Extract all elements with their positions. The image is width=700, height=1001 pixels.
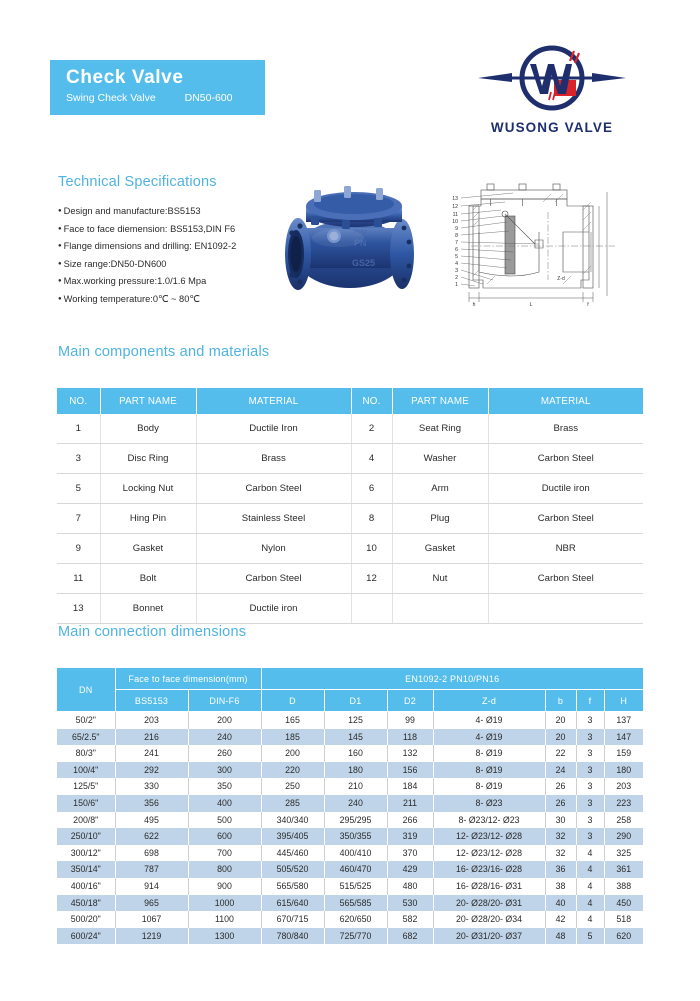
cell-material-left: Nylon	[196, 534, 351, 564]
cell-zd: 20- Ø31/20- Ø37	[433, 928, 545, 945]
cell-din-f6: 1100	[188, 911, 261, 928]
cell-d2: 266	[387, 812, 433, 829]
cell-d1: 180	[324, 762, 387, 779]
technical-specifications-list: Design and manufacture:BS5153 Face to fa…	[58, 203, 273, 308]
cell-dn: 100/4"	[57, 762, 115, 779]
cell-din-f6: 900	[188, 878, 261, 895]
cell-bs5153: 914	[115, 878, 188, 895]
cell-din-f6: 240	[188, 729, 261, 746]
svg-text:1: 1	[455, 282, 458, 288]
cell-b: 26	[545, 795, 576, 812]
cell-bs5153: 495	[115, 812, 188, 829]
cell-din-f6: 1000	[188, 895, 261, 912]
cell-f: 4	[576, 861, 604, 878]
svg-text:7: 7	[455, 240, 458, 246]
cell-f: 3	[576, 828, 604, 845]
cell-b: 40	[545, 895, 576, 912]
cell-f: 4	[576, 911, 604, 928]
cell-b: 22	[545, 745, 576, 762]
cell-bs5153: 203	[115, 712, 188, 729]
cell-f: 3	[576, 712, 604, 729]
cell-material-left: Carbon Steel	[196, 474, 351, 504]
cell-d: 670/715	[261, 911, 324, 928]
cell-d: 565/580	[261, 878, 324, 895]
cell-no-left: 1	[57, 414, 100, 444]
cell-material-left: Stainless Steel	[196, 504, 351, 534]
cell-no-right: 8	[351, 504, 392, 534]
cell-d: 165	[261, 712, 324, 729]
cell-material-left: Ductile Iron	[196, 414, 351, 444]
svg-text:12: 12	[452, 204, 458, 210]
cell-zd: 12- Ø23/12- Ø28	[433, 845, 545, 862]
cell-material-right: Carbon Steel	[488, 504, 643, 534]
cell-part-right: Seat Ring	[392, 414, 488, 444]
cell-din-f6: 600	[188, 828, 261, 845]
column-group-en1092: EN1092-2 PN10/PN16	[261, 668, 643, 690]
cell-dn: 500/20"	[57, 911, 115, 928]
product-size-range: DN50-600	[185, 92, 233, 104]
table-row: 5 Locking Nut Carbon Steel 6 Arm Ductile…	[57, 474, 643, 504]
cell-din-f6: 500	[188, 812, 261, 829]
table-row: 3 Disc Ring Brass 4 Washer Carbon Steel	[57, 444, 643, 474]
cell-d: 395/405	[261, 828, 324, 845]
table-row: 150/6"3564002852402118- Ø23263223	[57, 795, 643, 812]
cell-no-right	[351, 594, 392, 624]
cell-bs5153: 965	[115, 895, 188, 912]
main-connection-dimensions-table: DN Face to face dimension(mm) EN1092-2 P…	[57, 668, 643, 944]
cell-no-left: 11	[57, 564, 100, 594]
cell-din-f6: 400	[188, 795, 261, 812]
cell-d: 445/460	[261, 845, 324, 862]
cell-bs5153: 330	[115, 778, 188, 795]
column-header-dn: DN	[57, 668, 115, 712]
cell-dn: 400/16"	[57, 878, 115, 895]
cell-dn: 350/14"	[57, 861, 115, 878]
cell-d1: 515/525	[324, 878, 387, 895]
cell-zd: 4- Ø19	[433, 712, 545, 729]
cell-f: 3	[576, 745, 604, 762]
cell-zd: 20- Ø28/20- Ø31	[433, 895, 545, 912]
cell-part-left: Locking Nut	[100, 474, 196, 504]
cell-dn: 250/10"	[57, 828, 115, 845]
cell-b: 48	[545, 928, 576, 945]
cell-d2: 184	[387, 778, 433, 795]
table-row: 350/14"787800505/520460/47042916- Ø23/16…	[57, 861, 643, 878]
cell-f: 3	[576, 729, 604, 746]
cell-din-f6: 350	[188, 778, 261, 795]
cell-d2: 370	[387, 845, 433, 862]
cell-d2: 211	[387, 795, 433, 812]
cell-dn: 200/8"	[57, 812, 115, 829]
cell-bs5153: 622	[115, 828, 188, 845]
spec-item: Design and manufacture:BS5153	[58, 203, 273, 221]
title-subtitle-row: Swing Check Valve DN50-600	[66, 92, 265, 105]
table-row: 300/12"698700445/460400/41037012- Ø23/12…	[57, 845, 643, 862]
cell-d2: 118	[387, 729, 433, 746]
company-logo: WUSONG VALVE	[472, 42, 632, 135]
table-header-row-top: DN Face to face dimension(mm) EN1092-2 P…	[57, 668, 643, 690]
cell-din-f6: 300	[188, 762, 261, 779]
cell-part-left: Bolt	[100, 564, 196, 594]
cell-f: 3	[576, 795, 604, 812]
cell-d1: 350/355	[324, 828, 387, 845]
cell-zd: 8- Ø23/12- Ø23	[433, 812, 545, 829]
cell-b: 36	[545, 861, 576, 878]
cell-part-left: Hing Pin	[100, 504, 196, 534]
cell-bs5153: 292	[115, 762, 188, 779]
cell-no-right: 2	[351, 414, 392, 444]
table-row: 13 Bonnet Ductile iron	[57, 594, 643, 624]
cell-d: 220	[261, 762, 324, 779]
cell-dn: 450/18"	[57, 895, 115, 912]
spec-item: Max.working pressure:1.0/1.6 Mpa	[58, 273, 273, 291]
cell-din-f6: 260	[188, 745, 261, 762]
cell-d2: 480	[387, 878, 433, 895]
cell-b: 26	[545, 778, 576, 795]
svg-text:L: L	[530, 302, 533, 308]
cell-f: 4	[576, 895, 604, 912]
cell-no-right: 4	[351, 444, 392, 474]
cell-f: 4	[576, 878, 604, 895]
cell-zd: 20- Ø28/20- Ø34	[433, 911, 545, 928]
table-row: 500/20"10671100670/715620/65058220- Ø28/…	[57, 911, 643, 928]
cell-d: 185	[261, 729, 324, 746]
cell-d2: 99	[387, 712, 433, 729]
svg-text:Z-d: Z-d	[557, 276, 565, 282]
svg-text:4: 4	[455, 261, 458, 267]
spec-item: Flange dimensions and drilling: EN1092-2	[58, 238, 273, 256]
cell-b: 24	[545, 762, 576, 779]
cell-d1: 240	[324, 795, 387, 812]
table-row: 125/5"3303502502101848- Ø19263203	[57, 778, 643, 795]
cell-f: 3	[576, 762, 604, 779]
cell-part-right	[392, 594, 488, 624]
cell-d1: 295/295	[324, 812, 387, 829]
spec-item: Face to face diemension: BS5153,DIN F6	[58, 221, 273, 239]
cell-h: 203	[604, 778, 643, 795]
cell-bs5153: 216	[115, 729, 188, 746]
cell-d2: 582	[387, 911, 433, 928]
cell-part-right: Plug	[392, 504, 488, 534]
cell-b: 32	[545, 845, 576, 862]
column-header-no-left: NO.	[57, 388, 100, 414]
cell-f: 4	[576, 845, 604, 862]
column-header-bs5153: BS5153	[115, 690, 188, 712]
cell-dn: 80/3"	[57, 745, 115, 762]
cell-b: 32	[545, 828, 576, 845]
cell-d2: 530	[387, 895, 433, 912]
column-header-material-left: MATERIAL	[196, 388, 351, 414]
cell-h: 388	[604, 878, 643, 895]
title-banner: Check Valve Swing Check Valve DN50-600	[50, 60, 265, 115]
table-row: 250/10"622600395/405350/35531912- Ø23/12…	[57, 828, 643, 845]
cell-dn: 50/2"	[57, 712, 115, 729]
cell-d1: 145	[324, 729, 387, 746]
cell-d1: 160	[324, 745, 387, 762]
cell-din-f6: 700	[188, 845, 261, 862]
cell-material-right: Brass	[488, 414, 643, 444]
cell-zd: 8- Ø19	[433, 745, 545, 762]
cell-h: 258	[604, 812, 643, 829]
main-connection-dimensions-heading: Main connection dimensions	[58, 624, 246, 640]
cell-part-left: Disc Ring	[100, 444, 196, 474]
cell-bs5153: 1067	[115, 911, 188, 928]
cell-zd: 16- Ø23/16- Ø28	[433, 861, 545, 878]
cell-no-right: 12	[351, 564, 392, 594]
cell-h: 620	[604, 928, 643, 945]
cell-zd: 8- Ø23	[433, 795, 545, 812]
cell-d2: 429	[387, 861, 433, 878]
svg-text:GS25: GS25	[352, 258, 375, 268]
svg-text:10: 10	[452, 219, 458, 225]
cell-material-left: Ductile iron	[196, 594, 351, 624]
cell-b: 30	[545, 812, 576, 829]
main-components-table: NO. PART NAME MATERIAL NO. PART NAME MAT…	[57, 388, 643, 624]
table-row: 80/3"2412602001601328- Ø19223159	[57, 745, 643, 762]
page-title: Check Valve	[66, 67, 265, 89]
table-row: 11 Bolt Carbon Steel 12 Nut Carbon Steel	[57, 564, 643, 594]
cell-d: 200	[261, 745, 324, 762]
table-row: 50/2"203200165125994- Ø19203137	[57, 712, 643, 729]
cell-zd: 8- Ø19	[433, 778, 545, 795]
spec-item: Size range:DN50-DN600	[58, 256, 273, 274]
table-row: 7 Hing Pin Stainless Steel 8 Plug Carbon…	[57, 504, 643, 534]
svg-text:h: h	[473, 302, 476, 308]
cell-h: 290	[604, 828, 643, 845]
swing-check-valve-photo: DN PN GS25	[268, 176, 430, 308]
cell-material-right	[488, 594, 643, 624]
table-row: 1 Body Ductile Iron 2 Seat Ring Brass	[57, 414, 643, 444]
cell-h: 159	[604, 745, 643, 762]
cell-b: 42	[545, 911, 576, 928]
svg-text:13: 13	[452, 196, 458, 202]
column-header-f: f	[576, 690, 604, 712]
cell-no-left: 13	[57, 594, 100, 624]
table-header-row-sub: BS5153 DIN-F6 D D1 D2 Z-d b f H	[57, 690, 643, 712]
cell-d2: 682	[387, 928, 433, 945]
cell-dn: 65/2.5"	[57, 729, 115, 746]
table-row: 450/18"9651000615/640565/58553020- Ø28/2…	[57, 895, 643, 912]
cell-material-right: Carbon Steel	[488, 564, 643, 594]
table-row: 100/4"2923002201801568- Ø19243180	[57, 762, 643, 779]
cell-f: 3	[576, 812, 604, 829]
cell-bs5153: 356	[115, 795, 188, 812]
swing-check-valve-section-drawing: 13 12 11 10 9 8 7 6 5 4 3 2 1 L h f Z-d	[443, 176, 625, 308]
cell-d1: 460/470	[324, 861, 387, 878]
svg-text:6: 6	[455, 247, 458, 253]
cell-material-left: Carbon Steel	[196, 564, 351, 594]
cell-f: 5	[576, 928, 604, 945]
svg-text:3: 3	[455, 268, 458, 274]
cell-h: 450	[604, 895, 643, 912]
column-header-h: H	[604, 690, 643, 712]
main-components-heading: Main components and materials	[58, 344, 269, 360]
cell-zd: 12- Ø23/12- Ø28	[433, 828, 545, 845]
svg-text:5: 5	[455, 254, 458, 260]
cell-part-right: Nut	[392, 564, 488, 594]
cell-h: 147	[604, 729, 643, 746]
spec-item: Working temperature:0℃ ~ 80℃	[58, 291, 273, 309]
column-header-din-f6: DIN-F6	[188, 690, 261, 712]
cell-h: 325	[604, 845, 643, 862]
product-subtitle: Swing Check Valve	[66, 92, 156, 104]
cell-h: 361	[604, 861, 643, 878]
cell-d1: 620/650	[324, 911, 387, 928]
column-header-b: b	[545, 690, 576, 712]
cell-bs5153: 698	[115, 845, 188, 862]
table-row: 400/16"914900565/580515/52548016- Ø28/16…	[57, 878, 643, 895]
cell-bs5153: 1219	[115, 928, 188, 945]
svg-text:8: 8	[455, 233, 458, 239]
cell-d2: 319	[387, 828, 433, 845]
cell-h: 180	[604, 762, 643, 779]
svg-text:11: 11	[453, 212, 458, 218]
cell-b: 20	[545, 729, 576, 746]
column-header-part-name-right: PART NAME	[392, 388, 488, 414]
cell-no-left: 9	[57, 534, 100, 564]
column-group-face-to-face: Face to face dimension(mm)	[115, 668, 261, 690]
cell-b: 38	[545, 878, 576, 895]
cell-no-left: 3	[57, 444, 100, 474]
cell-h: 137	[604, 712, 643, 729]
cell-part-right: Washer	[392, 444, 488, 474]
cell-d: 505/520	[261, 861, 324, 878]
cell-no-left: 5	[57, 474, 100, 504]
column-header-part-name-left: PART NAME	[100, 388, 196, 414]
table-header-row: NO. PART NAME MATERIAL NO. PART NAME MAT…	[57, 388, 643, 414]
cell-material-right: Carbon Steel	[488, 444, 643, 474]
cell-dn: 150/6"	[57, 795, 115, 812]
cell-bs5153: 787	[115, 861, 188, 878]
table-row: 600/24"12191300780/840725/77068220- Ø31/…	[57, 928, 643, 945]
table-row: 200/8"495500340/340295/2952668- Ø23/12- …	[57, 812, 643, 829]
cell-d2: 132	[387, 745, 433, 762]
technical-specifications-heading: Technical Specifications	[58, 174, 217, 190]
column-header-no-right: NO.	[351, 388, 392, 414]
cell-no-left: 7	[57, 504, 100, 534]
cell-zd: 8- Ø19	[433, 762, 545, 779]
table-row: 65/2.5"2162401851451184- Ø19203147	[57, 729, 643, 746]
cell-zd: 4- Ø19	[433, 729, 545, 746]
cell-no-right: 6	[351, 474, 392, 504]
cell-dn: 125/5"	[57, 778, 115, 795]
cell-d: 780/840	[261, 928, 324, 945]
company-name: WUSONG VALVE	[472, 120, 632, 135]
cell-f: 3	[576, 778, 604, 795]
cell-d2: 156	[387, 762, 433, 779]
cell-d: 250	[261, 778, 324, 795]
cell-b: 20	[545, 712, 576, 729]
cell-d1: 725/770	[324, 928, 387, 945]
cell-zd: 16- Ø28/16- Ø31	[433, 878, 545, 895]
cell-d1: 210	[324, 778, 387, 795]
column-header-d: D	[261, 690, 324, 712]
cell-dn: 600/24"	[57, 928, 115, 945]
svg-text:2: 2	[455, 275, 458, 281]
table-row: 9 Gasket Nylon 10 Gasket NBR	[57, 534, 643, 564]
cell-part-left: Bonnet	[100, 594, 196, 624]
cell-d1: 125	[324, 712, 387, 729]
svg-text:9: 9	[455, 226, 458, 232]
cell-d1: 565/585	[324, 895, 387, 912]
cell-din-f6: 1300	[188, 928, 261, 945]
column-header-d1: D1	[324, 690, 387, 712]
cell-part-left: Body	[100, 414, 196, 444]
cell-dn: 300/12"	[57, 845, 115, 862]
cell-d: 340/340	[261, 812, 324, 829]
cell-material-left: Brass	[196, 444, 351, 474]
cell-h: 518	[604, 911, 643, 928]
wusong-logo-mark	[472, 42, 632, 116]
cell-din-f6: 800	[188, 861, 261, 878]
cell-part-right: Gasket	[392, 534, 488, 564]
column-header-material-right: MATERIAL	[488, 388, 643, 414]
cell-din-f6: 200	[188, 712, 261, 729]
page-header: Check Valve Swing Check Valve DN50-600	[0, 0, 700, 150]
column-header-d2: D2	[387, 690, 433, 712]
cell-material-right: NBR	[488, 534, 643, 564]
cell-d: 285	[261, 795, 324, 812]
cell-part-right: Arm	[392, 474, 488, 504]
cell-d: 615/640	[261, 895, 324, 912]
cell-bs5153: 241	[115, 745, 188, 762]
cell-h: 223	[604, 795, 643, 812]
cell-material-right: Ductile iron	[488, 474, 643, 504]
column-header-zd: Z-d	[433, 690, 545, 712]
cell-part-left: Gasket	[100, 534, 196, 564]
cell-no-right: 10	[351, 534, 392, 564]
cell-d1: 400/410	[324, 845, 387, 862]
